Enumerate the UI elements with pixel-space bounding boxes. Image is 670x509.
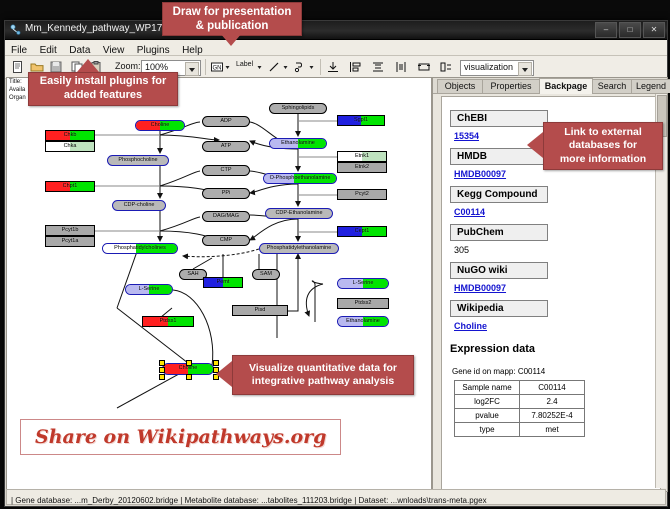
node-label: Choline <box>179 366 198 372</box>
gene-label: Chpt1 <box>63 184 78 190</box>
new-file-icon[interactable] <box>11 60 25 74</box>
close-button[interactable]: ✕ <box>643 22 665 38</box>
expression-value: C00114 <box>520 381 585 395</box>
gene-label: Cept1 <box>355 229 370 235</box>
db-header-pubchem: PubChem <box>450 224 548 241</box>
db-header-wikipedia: Wikipedia <box>450 300 548 317</box>
zoom-value: 100% <box>145 62 168 72</box>
gene-label: Pcyt2 <box>355 192 369 198</box>
callout-plugins: Easily install plugins for added feature… <box>28 72 178 106</box>
db-link-wikipedia[interactable]: Choline <box>454 321 652 331</box>
gene-node-chpt1[interactable]: Chpt1 <box>45 181 95 192</box>
pathway-node-ethanolamine-bottom[interactable]: Ethanolamine <box>337 316 389 327</box>
gene-label: Ptdss2 <box>355 301 372 307</box>
node-label: CDP-choline <box>124 203 155 209</box>
node-label: CDP-Ethanolamine <box>275 211 322 217</box>
expression-row: typemet <box>455 423 585 437</box>
expression-value: met <box>520 423 585 437</box>
gene-node-etnk1[interactable]: Etnk1 <box>337 151 387 162</box>
gene-node-etnk2[interactable]: Etnk2 <box>337 162 387 173</box>
app-icon <box>10 24 21 35</box>
node-label: DAG/MAG <box>213 214 239 220</box>
pathway-node-ppi[interactable]: PPi <box>202 188 250 199</box>
node-label: L-Serine <box>353 281 374 287</box>
line-icon[interactable] <box>267 60 281 74</box>
node-label: Ethanolamine <box>346 319 380 325</box>
callout-plugins-arrow-icon <box>77 59 99 72</box>
expression-data-heading: Expression data <box>450 343 652 355</box>
menu-bar: File Edit Data View Plugins Help <box>5 40 667 56</box>
chevron-down-icon[interactable] <box>308 60 315 74</box>
gene-id-line: Gene id on mapp: C00114 <box>452 367 652 376</box>
node-label: CMP <box>220 238 232 244</box>
callout-draw-line2: & publication <box>196 19 269 33</box>
gene-label: Sgpl1 <box>354 118 368 124</box>
selection-handle[interactable] <box>159 367 165 373</box>
gene-node-chka[interactable]: Chka <box>45 141 95 152</box>
gene-node-ptdss1[interactable]: Ptdss1 <box>142 316 194 327</box>
gene-label: Ptdss1 <box>160 319 177 325</box>
align-bottom-icon[interactable] <box>326 60 340 74</box>
node-label: SAH <box>187 272 198 278</box>
db-header-nugo-wiki: NuGO wiki <box>450 262 548 279</box>
callout-share: Share on Wikipathways.org <box>20 419 341 455</box>
callout-links-line1: Link to external <box>564 126 642 139</box>
anchor-line-icon[interactable] <box>293 60 307 74</box>
align-left-icon[interactable] <box>348 60 362 74</box>
callout-plugins-line1: Easily install plugins for <box>40 75 167 89</box>
gene-node-pcyt1b[interactable]: Pcyt1b <box>45 225 95 236</box>
node-label: PPi <box>222 191 231 197</box>
node-label: ADP <box>220 119 231 125</box>
side-panel-tabs: Objects Properties Backpage Search Legen… <box>433 78 667 94</box>
visualization-combo[interactable]: visualization <box>460 60 534 76</box>
callout-visualize-arrow-icon <box>216 361 232 387</box>
distribute-horizontal-icon[interactable] <box>394 60 408 74</box>
screenshot-root: Mm_Kennedy_pathway_WP1771_45176.gpml – □… <box>0 0 670 509</box>
gene-node-pisd[interactable]: Pisd <box>232 305 288 316</box>
pathway-node-dag-mag[interactable]: DAG/MAG <box>202 211 250 222</box>
pathway-node-o-phosphoethanolamine[interactable]: O-Phosphoethanolamine <box>263 173 337 184</box>
db-link-kegg-compound[interactable]: C00114 <box>454 207 652 217</box>
chevron-down-icon[interactable] <box>518 62 532 76</box>
pathway-node-adp[interactable]: ADP <box>202 116 250 127</box>
node-label: ATP <box>221 144 231 150</box>
zoom-label: Zoom: <box>115 61 141 71</box>
node-label: Phosphatidylcholines <box>114 246 166 252</box>
selection-handle[interactable] <box>159 374 165 380</box>
gene-label: Pisd <box>255 308 266 314</box>
selection-handle[interactable] <box>159 360 165 366</box>
expression-key: log2FC <box>455 395 520 409</box>
tab-objects[interactable]: Objects <box>437 79 483 93</box>
callout-visualize-line2: integrative pathway analysis <box>252 375 394 388</box>
chevron-down-icon[interactable] <box>256 60 263 74</box>
db-link-hmdb[interactable]: HMDB00097 <box>454 169 652 179</box>
pathway-node-sphingolipids[interactable]: Sphingolipids <box>269 103 327 114</box>
callout-links: Link to external databases for more info… <box>543 122 663 170</box>
status-bar-text: | Gene database: ...m_Derby_20120602.bri… <box>7 496 487 505</box>
db-link-nugo-wiki[interactable]: HMDB00097 <box>454 283 652 293</box>
chevron-down-icon[interactable] <box>282 60 289 74</box>
gene-label: Chka <box>64 144 77 150</box>
gene-node-ptdss2[interactable]: Ptdss2 <box>337 298 389 309</box>
pathway-node-sam[interactable]: SAM <box>252 269 280 280</box>
node-label: SAM <box>260 272 272 278</box>
gene-label: Pcyt1b <box>62 228 79 234</box>
gene-label: Etnk1 <box>355 154 369 160</box>
pathway-node-l-serine-right[interactable]: L-Serine <box>337 278 389 289</box>
maximize-button[interactable]: □ <box>619 22 641 38</box>
tab-legend[interactable]: Legend <box>631 79 670 93</box>
gene-label: Pemt <box>217 280 230 286</box>
db-value-pubchem: 305 <box>454 245 652 255</box>
node-label: Choline <box>151 123 170 129</box>
gene-node-sgpl1[interactable]: Sgpl1 <box>337 115 385 126</box>
gene-node-pemt[interactable]: Pemt <box>203 277 243 288</box>
gene-label: Chkb <box>64 133 77 139</box>
gene-label: Etnk2 <box>355 165 369 171</box>
expression-key: pvalue <box>455 409 520 423</box>
node-label: Phosphocholine <box>118 158 157 164</box>
group-icon[interactable] <box>417 60 431 74</box>
db-header-chebi: ChEBI <box>450 110 548 127</box>
pathway-node-phosphatidylcholines[interactable]: Phosphatidylcholines <box>102 243 178 254</box>
db-header-kegg-compound: Kegg Compound <box>450 186 548 203</box>
gene-node-pcyt2[interactable]: Pcyt2 <box>337 189 387 200</box>
expression-value: 2.4 <box>520 395 585 409</box>
tab-backpage[interactable]: Backpage <box>539 78 593 94</box>
callout-draw: Draw for presentation & publication <box>162 2 302 36</box>
gene-node-chkb[interactable]: Chkb <box>45 130 95 141</box>
callout-draw-line1: Draw for presentation <box>173 5 292 19</box>
callout-draw-arrow-icon <box>220 33 242 46</box>
window-controls: – □ ✕ <box>595 22 665 38</box>
expression-row: pvalue7.80252E-4 <box>455 409 585 423</box>
gene-node-pcyt1a[interactable]: Pcyt1a <box>45 236 95 247</box>
node-label: Phosphatidylethanolamine <box>267 246 332 252</box>
pathway-node-cmp[interactable]: CMP <box>202 235 250 246</box>
status-bar: | Gene database: ...m_Derby_20120602.bri… <box>6 489 666 505</box>
expression-row: log2FC2.4 <box>455 395 585 409</box>
callout-links-arrow-icon <box>527 132 543 158</box>
callout-plugins-line2: added features <box>64 89 142 103</box>
selection-handle[interactable] <box>186 374 192 380</box>
minimize-button[interactable]: – <box>595 22 617 38</box>
node-label: O-Phosphoethanolamine <box>270 176 331 182</box>
gene-node-cept1[interactable]: Cept1 <box>337 226 387 237</box>
chevron-down-icon[interactable] <box>185 62 199 76</box>
callout-visualize-line1: Visualize quantitative data for <box>249 362 397 375</box>
callout-links-line2: databases for <box>569 139 637 152</box>
node-label: Sphingolipids <box>282 106 315 112</box>
pathway-node-cdp-ethanolamine[interactable]: CDP-Ethanolamine <box>265 208 333 219</box>
gene-label: Pcyt1a <box>62 239 79 245</box>
svg-text:GN: GN <box>213 66 222 72</box>
data-node-icon[interactable]: GN <box>210 60 224 74</box>
callout-share-text: Share on Wikipathways.org <box>35 426 326 448</box>
expression-table: Sample nameC00114log2FC2.4pvalue7.80252E… <box>454 380 585 437</box>
tab-search[interactable]: Search <box>592 79 632 93</box>
expression-key: Sample name <box>455 381 520 395</box>
expression-value: 7.80252E-4 <box>520 409 585 423</box>
pathway-node-ethanolamine-top[interactable]: Ethanolamine <box>269 138 327 149</box>
label-tool-label: Label <box>236 61 253 68</box>
distribute-vertical-icon[interactable] <box>371 60 385 74</box>
stack-icon[interactable] <box>439 60 453 74</box>
visualization-value: visualization <box>464 62 513 72</box>
pathway-node-phosphatidylethanolamine[interactable]: Phosphatidylethanolamine <box>259 243 339 254</box>
callout-visualize: Visualize quantitative data for integrat… <box>232 355 414 395</box>
callout-links-line3: more information <box>560 153 646 166</box>
tab-properties[interactable]: Properties <box>482 79 540 93</box>
pathway-node-atp[interactable]: ATP <box>202 141 250 152</box>
pathway-node-phosphocholine[interactable]: Phosphocholine <box>107 155 169 166</box>
chevron-down-icon[interactable] <box>224 60 231 74</box>
pathway-node-ctp[interactable]: CTP <box>202 165 250 176</box>
pathway-node-l-serine-left[interactable]: L-Serine <box>125 284 173 295</box>
pathway-node-cdp-choline[interactable]: CDP-choline <box>112 200 166 211</box>
node-label: CTP <box>221 168 232 174</box>
window-titlebar[interactable]: Mm_Kennedy_pathway_WP1771_45176.gpml – □… <box>5 21 667 40</box>
expression-key: type <box>455 423 520 437</box>
node-label: Ethanolamine <box>281 141 315 147</box>
pathway-node-choline-top[interactable]: Choline <box>135 120 185 131</box>
expression-row: Sample nameC00114 <box>455 381 585 395</box>
node-label: L-Serine <box>139 287 160 293</box>
